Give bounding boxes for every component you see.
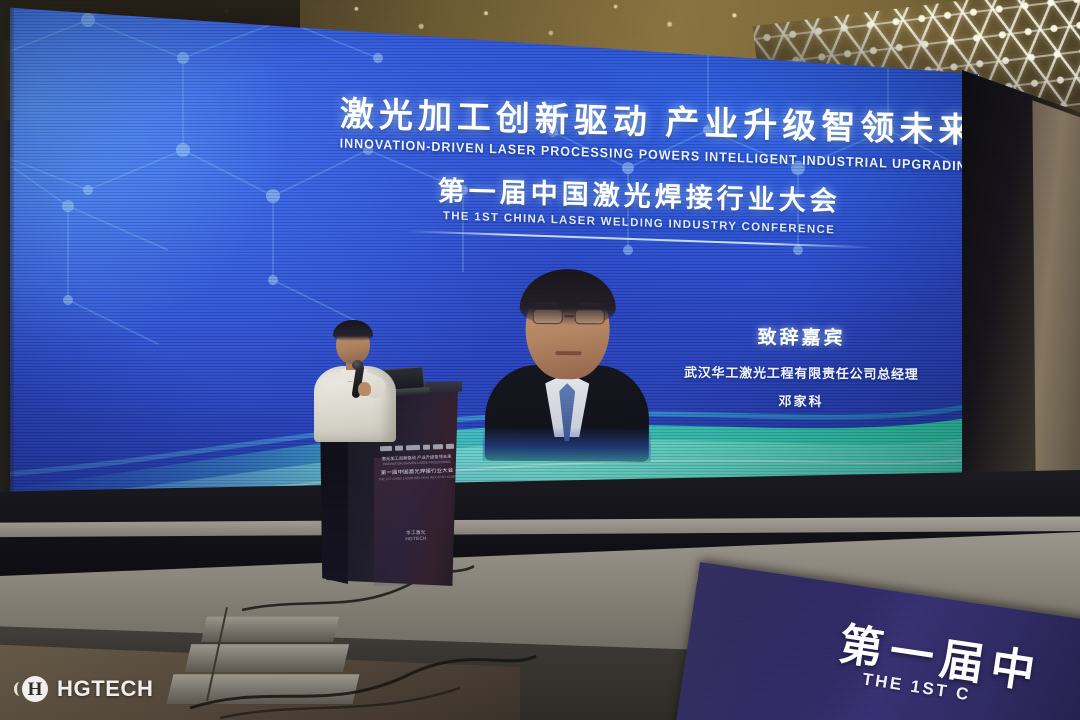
led-screen: 激光加工创新驱动 产业升级智领未来 INNOVATION-DRIVEN LASE… [8, 0, 978, 520]
microphone-head-icon [352, 360, 363, 370]
hgtech-watermark: H HGTECH [22, 676, 154, 702]
logo-letter: H [28, 680, 43, 699]
podium-branding-text: 激光加工创新驱动 产业升级智领未来 INNOVATION-DRIVEN LASE… [378, 454, 457, 483]
watermark-brand-text: HGTECH [57, 676, 154, 702]
speaker-name: 邓家科 [646, 390, 956, 412]
speaker-company-title: 武汉华工激光工程有限责任公司总经理 [646, 362, 956, 384]
screen-left-frame [0, 0, 14, 520]
conference-title-block: 激光加工创新驱动 产业升级智领未来 INNOVATION-DRIVEN LASE… [339, 92, 940, 243]
conference-stage-photo: 激光加工创新驱动 产业升级智领未来 INNOVATION-DRIVEN LASE… [0, 0, 1080, 720]
logo-swoosh-icon [14, 682, 26, 696]
speaker-portrait-photo [483, 269, 652, 460]
podium-foot-logo: 华工激光 HGTECH [388, 529, 444, 543]
speaker-info-block: 致辞嘉宾 武汉华工激光工程有限责任公司总经理 邓家科 [646, 322, 957, 412]
floor-cable [180, 630, 540, 720]
speaker-person [300, 322, 410, 442]
glasses-icon [532, 309, 606, 326]
speaker-role-label: 致辞嘉宾 [647, 322, 957, 352]
